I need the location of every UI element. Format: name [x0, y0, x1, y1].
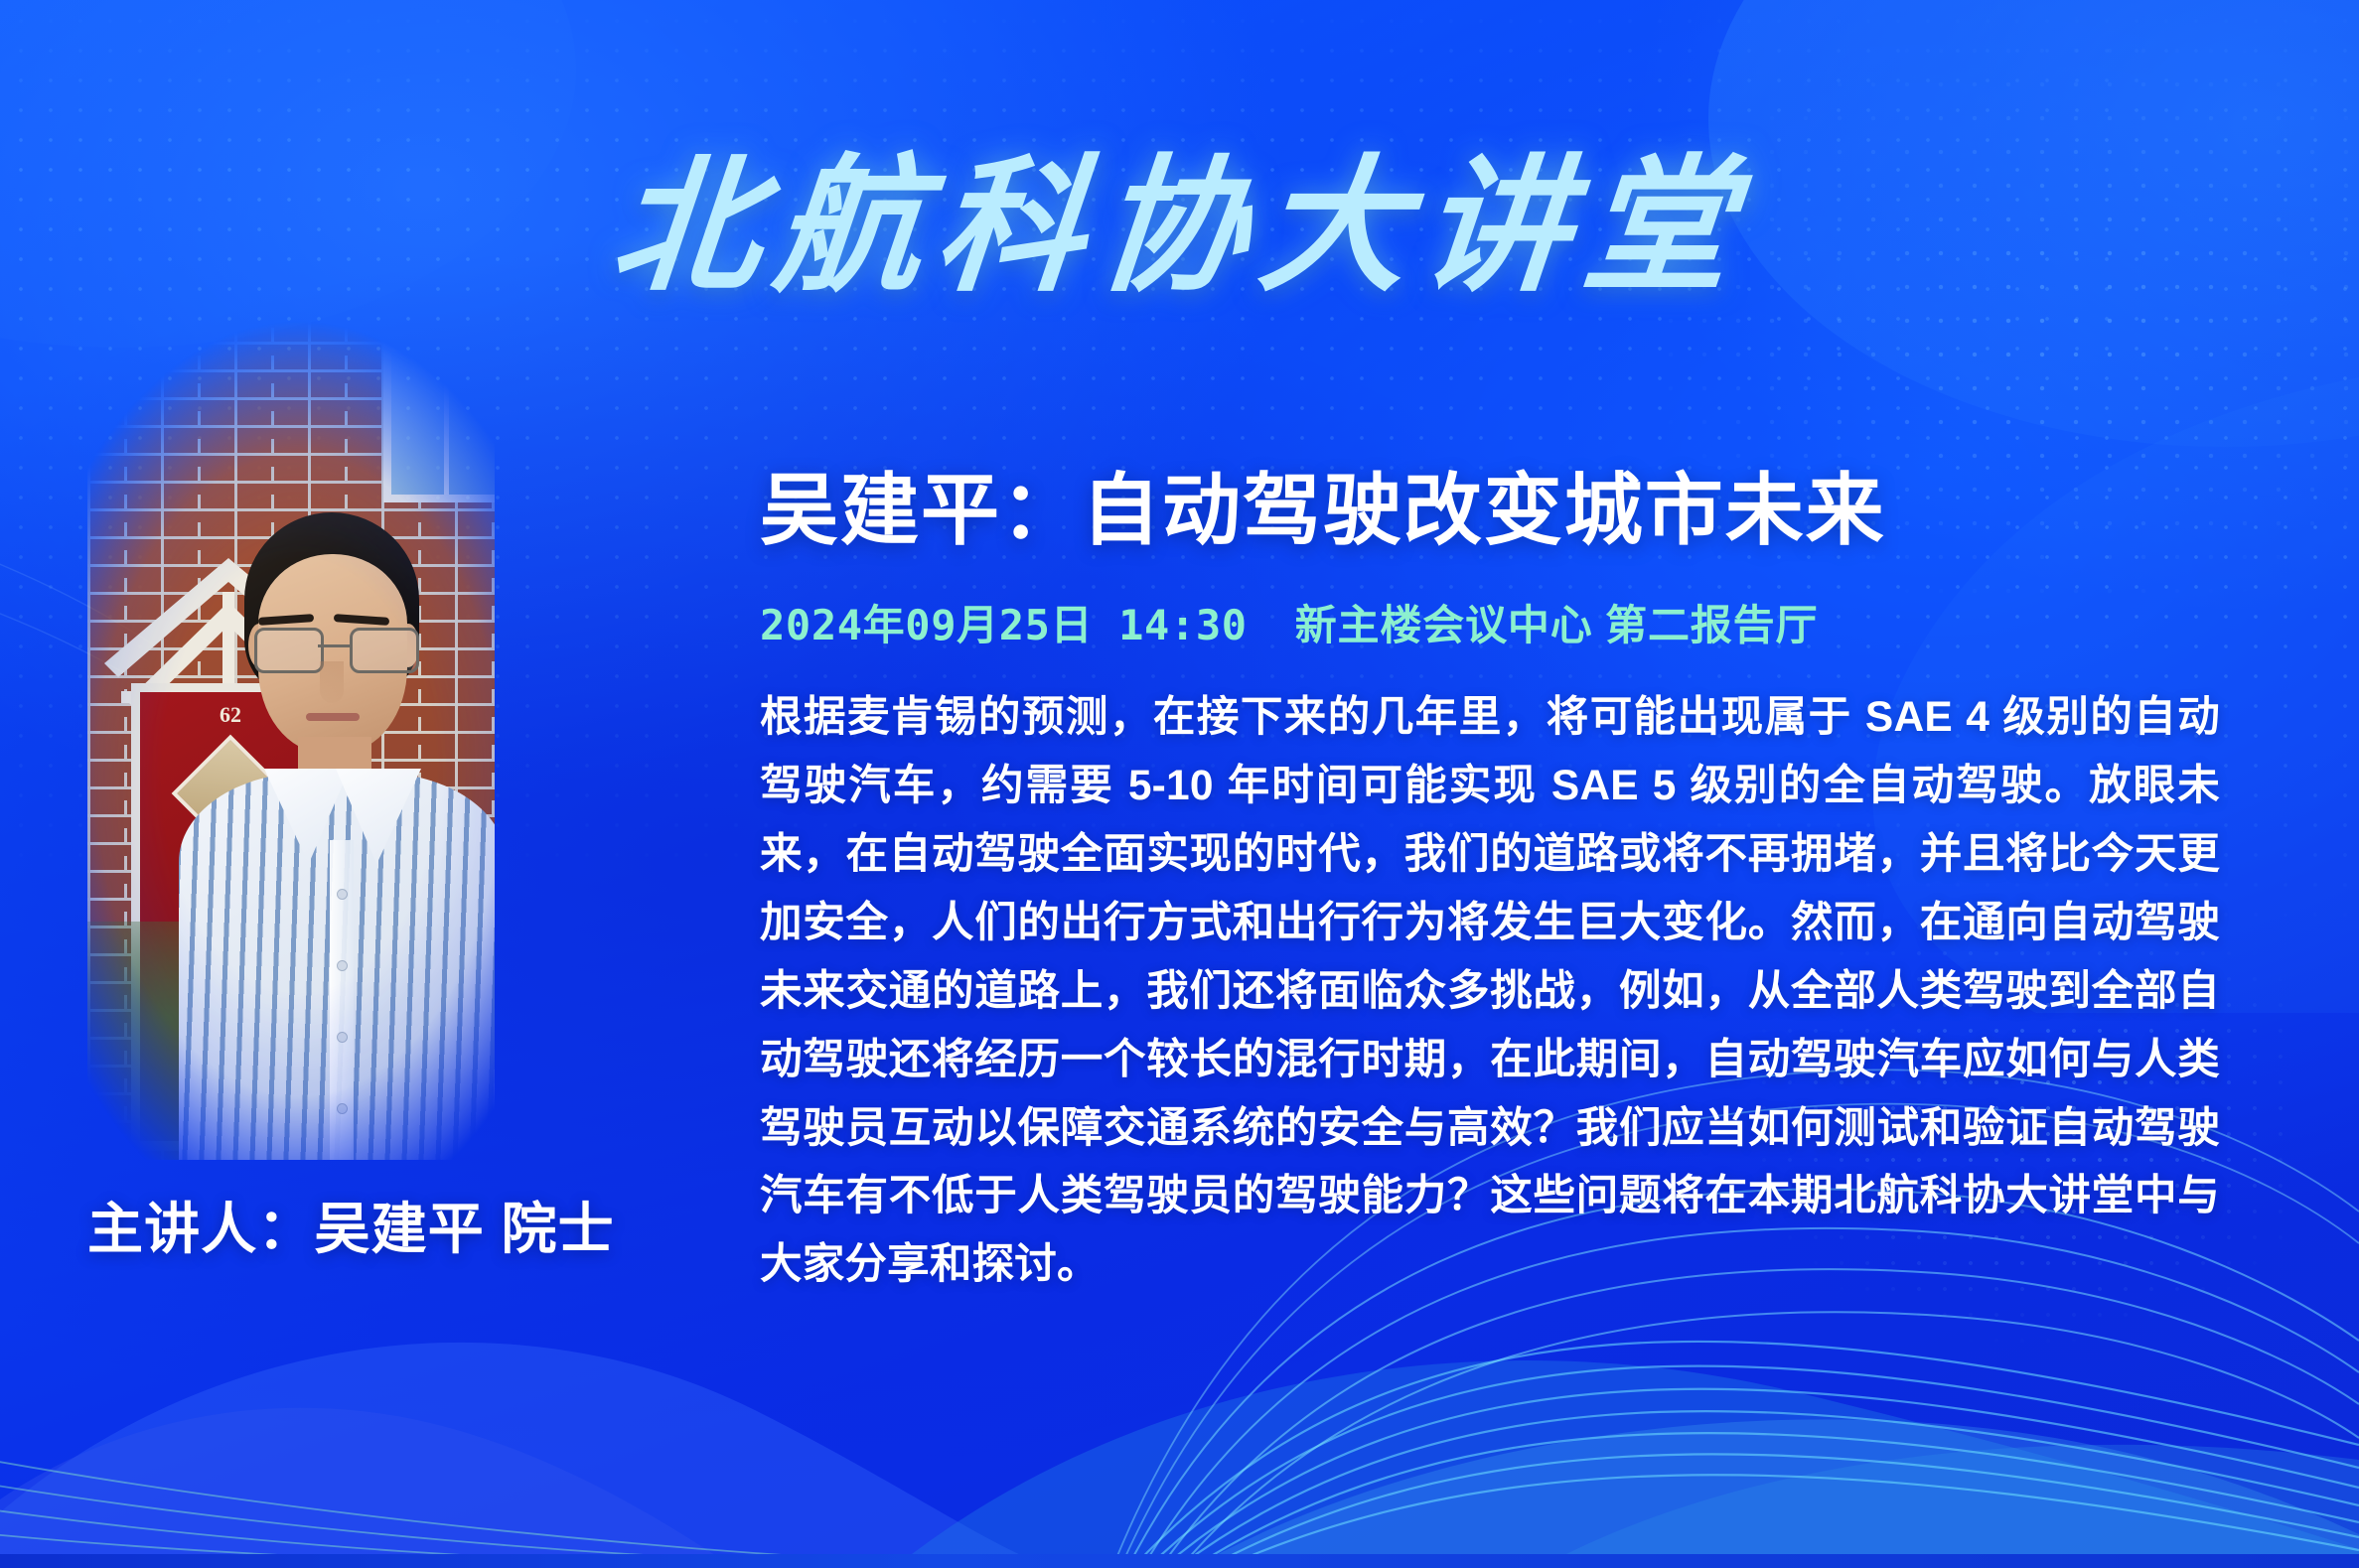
glasses-lens-left: [254, 628, 324, 673]
shirt-button: [338, 1033, 347, 1042]
glasses-lens-right: [350, 628, 419, 673]
bottom-accent-bar: [0, 1554, 2359, 1568]
shirt-button: [338, 961, 347, 970]
speaker-photo-image: 62: [87, 286, 495, 1160]
speaker-photo: 62: [87, 286, 495, 1160]
lecture-title: 吴建平：自动驾驶改变城市未来: [760, 467, 2220, 554]
photo-person: [179, 512, 495, 1160]
page-title: 北航科协大讲堂: [0, 149, 2359, 303]
poster-canvas: 北航科协大讲堂 62: [0, 0, 2359, 1568]
lecture-info-panel: 吴建平：自动驾驶改变城市未来 2024年09月25日 14:30 新主楼会议中心…: [760, 467, 2220, 1300]
person-mouth: [306, 713, 360, 721]
photo-window: [383, 344, 495, 502]
glasses-bridge: [318, 644, 350, 647]
lecture-datetime: 2024年09月25日 14:30: [760, 592, 1248, 652]
person-nose: [320, 661, 344, 703]
lecture-meta-row: 2024年09月25日 14:30 新主楼会议中心 第二报告厅: [760, 592, 2220, 652]
lecture-abstract: 根据麦肯锡的预测，在接下来的几年里，将可能出现属于 SAE 4 级别的自动驾驶汽…: [760, 684, 2220, 1300]
shirt-button: [338, 1104, 347, 1113]
bottom-decoration: [0, 1240, 2359, 1568]
lecture-venue: 新主楼会议中心 第二报告厅: [1295, 592, 1819, 652]
shirt-button: [338, 890, 347, 899]
